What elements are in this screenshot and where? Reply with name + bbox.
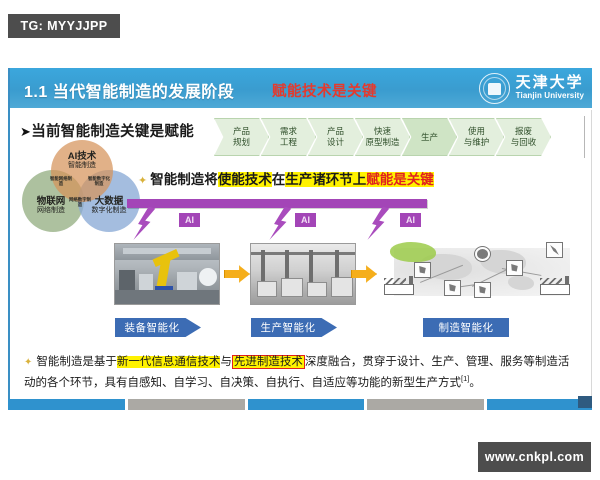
- ai-tag: AI: [400, 213, 421, 227]
- key-bullet: ➤当前智能制造关键是赋能: [20, 120, 194, 141]
- stage-label-line2: 设计: [327, 137, 344, 148]
- process-stage-5: 生产: [402, 118, 457, 156]
- stage-label-line2: 与回收: [511, 137, 537, 148]
- map-tools-icon: [546, 242, 563, 258]
- diamond-bullet-icon: ✦: [138, 175, 147, 187]
- university-seal-icon: [479, 73, 510, 104]
- enabling-tech-bar: [127, 199, 427, 208]
- process-stage-6: 使用与维护: [449, 118, 504, 156]
- university-name-en: Tianjin University: [516, 92, 584, 100]
- process-stage-2: 需求工程: [261, 118, 316, 156]
- stage-label-line1: 产品: [327, 126, 344, 137]
- factory-icon: [540, 278, 570, 295]
- green-region-highlight: [390, 242, 436, 262]
- headline-seg-2: 使能技术: [218, 172, 272, 187]
- stage-label-line1: 需求: [280, 126, 297, 137]
- process-chevron-strip: 产品规划需求工程产品设计快速原型制造生产使用与维护报废与回收: [214, 118, 543, 156]
- venn-overlap-right: 智能数字化制造: [86, 176, 112, 186]
- definition-paragraph: ✦智能制造是基于新一代信息通信技术与先进制造技术深度融合，贯穿于设计、生产、管理…: [24, 352, 580, 393]
- global-network-map: [376, 238, 580, 310]
- para-highlight-1: 新一代信息通信技术: [117, 356, 221, 368]
- key-bullet-label: 当前智能制造关键是赋能: [31, 124, 194, 140]
- strip-segment-4: [367, 399, 484, 410]
- venn-label-iot: 物联网 网络制造: [20, 196, 82, 216]
- university-logo: 天津大学 Tianjin University: [479, 73, 584, 104]
- bottom-watermark: www.cnkpl.com: [478, 442, 591, 472]
- headline-seg-4: 生产诸环节上: [285, 172, 366, 187]
- process-stage-4: 快速原型制造: [355, 118, 410, 156]
- presentation-slide: 1.1 当代智能制造的发展阶段 赋能技术是关键 天津大学 Tianjin Uni…: [8, 68, 592, 409]
- map-gauge-icon: [474, 246, 491, 262]
- process-stage-1: 产品规划: [214, 118, 269, 156]
- map-node-icon: [474, 282, 491, 298]
- university-name-cn: 天津大学: [516, 76, 584, 92]
- slide-subtitle: 赋能技术是关键: [272, 80, 377, 101]
- strip-segment-5: [487, 399, 592, 410]
- venn-diagram: 智能网络制造 智能数字化制造 网络数字制造 AI技术 智能制造 物联网 网络制造…: [20, 140, 142, 232]
- flow-arrow-icon: [224, 265, 250, 283]
- caption-manufacturing: 制造智能化: [423, 318, 509, 337]
- top-watermark: TG: MYYJJPP: [8, 14, 120, 38]
- stage-label-line1: 生产: [421, 132, 438, 143]
- page-title: 1.1 当代智能制造的发展阶段: [24, 78, 234, 102]
- para-seg-1: 智能制造是基于: [36, 356, 117, 368]
- map-operator-icon: [506, 260, 523, 276]
- factory-floor-photo: [250, 243, 356, 305]
- process-stage-3: 产品设计: [308, 118, 363, 156]
- stage-label-line2: 规划: [233, 137, 250, 148]
- headline-statement: ✦智能制造将使能技术在生产诸环节上赋能是关键: [138, 168, 434, 188]
- factory-icon: [384, 278, 414, 295]
- venn-circle-ai: [51, 140, 113, 202]
- caption-equipment: 装备智能化: [115, 318, 201, 337]
- stage-label-line1: 使用: [468, 126, 485, 137]
- map-node-icon: [414, 262, 431, 278]
- map-node-icon: [444, 280, 461, 296]
- stage-label-line1: 快速: [374, 126, 391, 137]
- para-seg-5: 。: [469, 377, 481, 389]
- headline-seg-5: 赋能是关键: [366, 172, 434, 187]
- strip-segment-1: [8, 399, 125, 410]
- stage-label-line1: 产品: [233, 126, 250, 137]
- para-highlight-2-boxed: 先进制造技术: [232, 355, 305, 369]
- headline-seg-3: 在: [272, 172, 286, 187]
- venn-overlap-left: 智能网络制造: [48, 176, 74, 186]
- slide-header-band: 1.1 当代智能制造的发展阶段 赋能技术是关键 天津大学 Tianjin Uni…: [10, 68, 592, 110]
- process-stage-7: 报废与回收: [496, 118, 551, 156]
- stage-label-line2: 与维护: [464, 137, 490, 148]
- ai-tag: AI: [179, 213, 200, 227]
- bottom-color-strip: [8, 399, 592, 410]
- stage-label-line1: 报废: [515, 126, 532, 137]
- para-seg-2: 与: [220, 356, 232, 368]
- stage-label-line2: 原型制造: [365, 137, 399, 148]
- venn-label-ai: AI技术 智能制造: [51, 151, 113, 171]
- process-divider: [584, 116, 585, 158]
- para-seg-3: 深度融合，贯穿于设计、生产、管理、服务等制造: [305, 356, 558, 368]
- strip-right-end: [578, 396, 592, 408]
- diamond-bullet-icon: ✦: [24, 357, 32, 368]
- arrow-bullet-icon: ➤: [20, 124, 31, 139]
- robot-arm-photo: [114, 243, 220, 305]
- ai-tag: AI: [295, 213, 316, 227]
- strip-segment-2: [128, 399, 245, 410]
- stage-label-line2: 工程: [280, 137, 297, 148]
- headline-seg-1: 智能制造将: [150, 172, 218, 187]
- strip-segment-3: [248, 399, 365, 410]
- university-name: 天津大学 Tianjin University: [516, 76, 584, 100]
- slide-screenshot: TG: MYYJJPP 1.1 当代智能制造的发展阶段 赋能技术是关键 天津大学…: [0, 0, 600, 480]
- caption-production: 生产智能化: [251, 318, 337, 337]
- lightning-bolt-icon: [268, 205, 292, 244]
